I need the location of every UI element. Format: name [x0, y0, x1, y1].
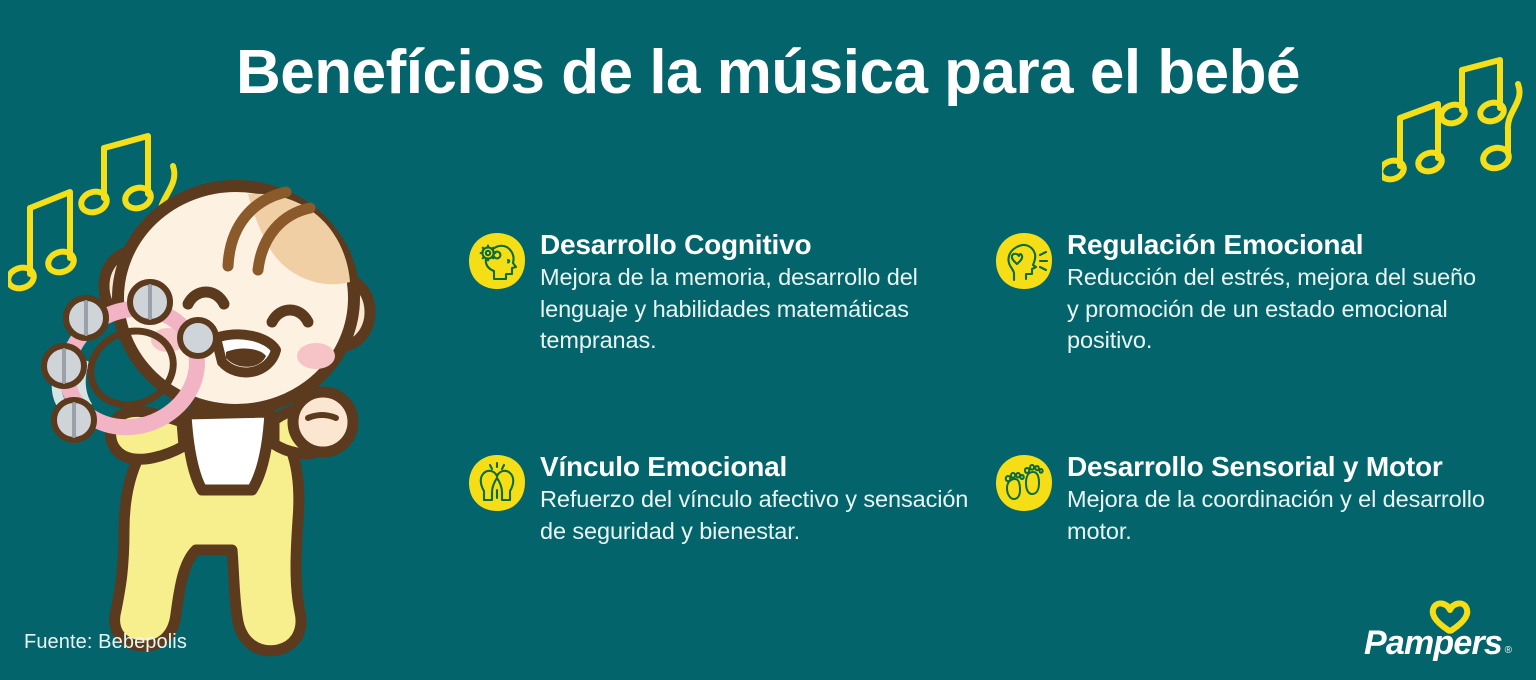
pampers-logo: Pampers ®: [1352, 596, 1514, 662]
benefit-title: Desarrollo Cognitivo: [540, 229, 993, 260]
benefit-item-emotional-bond: Vínculo Emocional Refuerzo del vínculo a…: [466, 450, 993, 547]
source-credit: Fuente: Bebepolis: [24, 631, 187, 654]
page-title: Benefícios de la música para el bebé: [0, 42, 1536, 104]
benefits-row: Vínculo Emocional Refuerzo del vínculo a…: [466, 450, 1520, 547]
benefit-title: Vínculo Emocional: [540, 451, 993, 482]
benefits-grid: Desarrollo Cognitivo Mejora de la memori…: [466, 228, 1520, 547]
benefit-description: Refuerzo del vínculo afectivo y sensació…: [540, 484, 990, 547]
benefits-row: Desarrollo Cognitivo Mejora de la memori…: [466, 228, 1520, 356]
brand-name: Pampers: [1352, 626, 1514, 660]
music-notes-icon: [1382, 48, 1532, 213]
benefit-description: Mejora de la coordinación y el desarroll…: [1067, 484, 1487, 547]
benefit-title: Desarrollo Sensorial y Motor: [1067, 451, 1520, 482]
hands-heart-icon: [466, 452, 528, 519]
benefit-description: Reducción del estrés, mejora del sueño y…: [1067, 262, 1487, 356]
benefit-item-sensory-motor: Desarrollo Sensorial y Motor Mejora de l…: [993, 450, 1520, 547]
benefit-description: Mejora de la memoria, desarrollo del len…: [540, 262, 990, 356]
benefit-item-emotional-regulation: Regulación Emocional Reducción del estré…: [993, 228, 1520, 356]
benefit-item-cognitive: Desarrollo Cognitivo Mejora de la memori…: [466, 228, 993, 356]
benefit-title: Regulación Emocional: [1067, 229, 1520, 260]
infographic-canvas: Benefícios de la música para el bebé: [0, 0, 1536, 680]
head-with-heart-icon: [993, 230, 1055, 297]
head-with-gear-icon: [466, 230, 528, 297]
brand-trademark: ®: [1505, 645, 1512, 656]
baby-footprints-icon: [993, 452, 1055, 519]
baby-with-tambourine-illustration: [20, 170, 460, 675]
